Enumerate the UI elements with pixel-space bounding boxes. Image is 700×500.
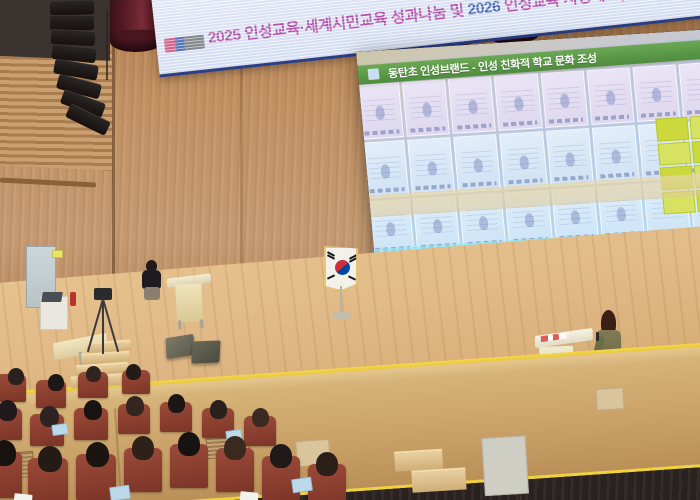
banner-title-part1: 2025 인성교육·세계시민교육 성과나눔 및 [207, 2, 468, 47]
flag-base [332, 312, 352, 319]
sticky-note [691, 139, 700, 163]
audience-head [252, 408, 269, 427]
hanging-rig-cable [106, 10, 108, 80]
sticky-note [689, 115, 700, 139]
stage-monitor [165, 334, 194, 359]
poster-item [499, 131, 547, 189]
poster-item [540, 70, 588, 128]
lectern-body [175, 283, 203, 322]
slide-poster-grid [356, 58, 700, 259]
audience-section [0, 368, 410, 500]
audience-head [126, 364, 141, 380]
audience-head [270, 444, 292, 468]
poster-item [592, 125, 640, 183]
audience-head [132, 436, 154, 460]
sticky-note [655, 117, 689, 141]
sticky-note-grid [655, 115, 700, 215]
program-booklet [109, 485, 131, 500]
organization-logo [164, 35, 205, 53]
stage-stairs[interactable] [393, 426, 517, 500]
camera-tripod [86, 288, 120, 354]
stair-step[interactable] [411, 467, 466, 492]
poster-item [586, 67, 634, 125]
audience-head [168, 394, 185, 413]
stage-access-plate [595, 387, 624, 411]
audience-head [210, 400, 227, 419]
microphone [596, 332, 599, 341]
stage-monitor [191, 340, 220, 363]
poster-item [545, 128, 593, 186]
banner-title-part2: 인성교육 시행계획(안) [499, 0, 646, 15]
audience-head [38, 446, 62, 472]
poster-item [448, 76, 496, 134]
audience-head [224, 436, 246, 460]
person-legs [144, 287, 160, 300]
sticky-note [658, 141, 692, 165]
banner-title-year: 2026 [467, 0, 502, 19]
poster-item [361, 140, 409, 198]
program-booklet [51, 423, 68, 436]
poster-item [453, 134, 501, 192]
audience-head [316, 452, 338, 476]
audience-head [178, 432, 200, 456]
auditorium-photo: 2025 인성교육·세계시민교육 성과나눔 및 2026 인성교육 시행계획(안… [0, 0, 700, 500]
audience-head [0, 400, 17, 421]
audience-head [86, 366, 101, 382]
audience-head [126, 396, 144, 416]
laptop[interactable] [41, 292, 63, 302]
audience-head [0, 440, 16, 466]
poster-item [407, 137, 455, 195]
stair-side-panel [481, 436, 529, 497]
fire-extinguisher [70, 292, 76, 306]
poster-item [356, 82, 404, 140]
handout-paper [13, 493, 32, 500]
audience-head [86, 442, 109, 467]
poster-item [402, 79, 450, 137]
audience-head [8, 368, 24, 385]
handout-paper [239, 491, 258, 500]
seated-person-on-stage [141, 260, 163, 302]
projection-image: 동탄초 인성브랜드 - 인성 친화적 학교 문화 조성 [356, 29, 700, 259]
line-array-speaker [48, 0, 96, 125]
audience-head [48, 374, 64, 391]
lectern-left [171, 275, 209, 325]
poster-item [678, 61, 700, 119]
poster-item [632, 64, 680, 122]
exit-sign [52, 250, 63, 258]
flag-pole [340, 286, 342, 314]
audience-head [84, 400, 102, 420]
program-booklet [291, 477, 313, 494]
poster-item [494, 73, 542, 131]
korean-flag [324, 246, 364, 322]
